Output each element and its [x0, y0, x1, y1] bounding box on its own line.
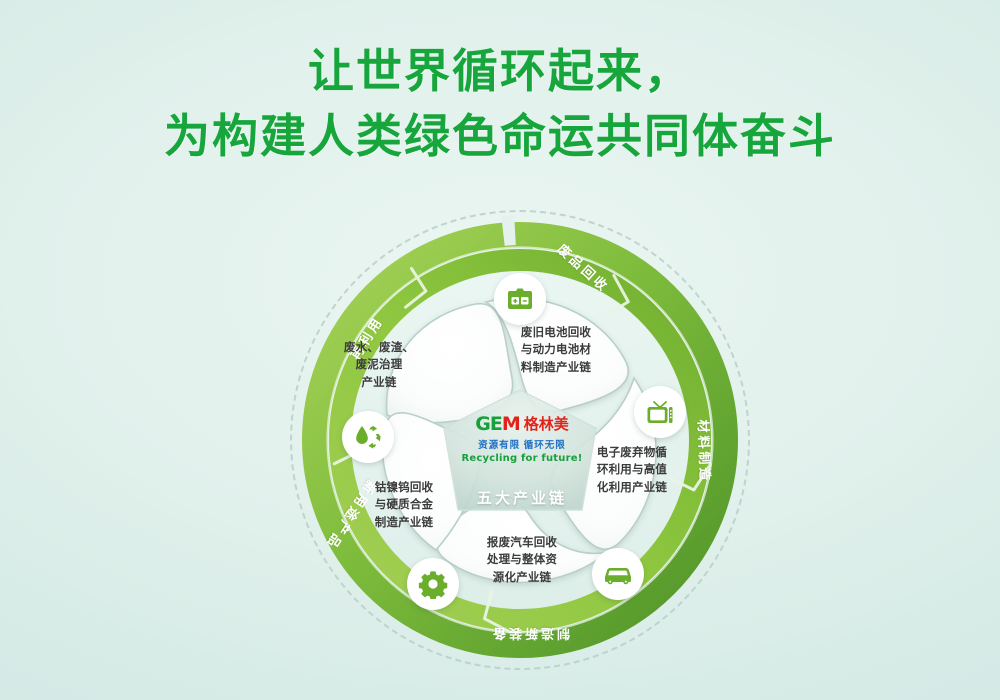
ring-label-material-mfg: 材料制造 [694, 419, 715, 484]
chain-label-line: 产业链 [325, 375, 433, 392]
chain-label-line: 与动力电池材 [502, 342, 610, 359]
television-icon-bubble[interactable] [634, 386, 686, 438]
ring-label-new-equipment: 制造新装备 [490, 625, 570, 644]
circular-value-chain-diagram: 再利用 废品回收 材料制造 制造新装备 新用途产品 废水、废渣、 废泥治理 产业… [290, 210, 750, 670]
battery-icon-bubble[interactable] [494, 273, 546, 325]
chain-label-line: 源化产业链 [468, 570, 576, 587]
chain-label-line: 废旧电池回收 [502, 325, 610, 342]
chain-label-end-of-life-vehicles: 报废汽车回收 处理与整体资 源化产业链 [468, 535, 576, 587]
chain-label-e-waste: 电子废弃物循 环利用与高值 化利用产业链 [578, 445, 686, 497]
chain-label-line: 钴镍钨回收 [350, 480, 458, 497]
car-icon [602, 563, 634, 585]
chain-label-line: 料制造产业链 [502, 360, 610, 377]
chain-label-cobalt-nickel-tungsten: 钴镍钨回收 与硬质合金 制造产业链 [350, 480, 458, 532]
chain-label-line: 与硬质合金 [350, 497, 458, 514]
chain-label-line: 处理与整体资 [468, 552, 576, 569]
chain-label-waste-treatment: 废水、废渣、 废泥治理 产业链 [325, 340, 433, 392]
gear-icon [418, 569, 448, 599]
page-title: 让世界循环起来， 为构建人类绿色命运共同体奋斗 [0, 42, 1000, 166]
chain-label-line: 废水、废渣、 [325, 340, 433, 357]
infographic-canvas: 让世界循环起来， 为构建人类绿色命运共同体奋斗 [0, 0, 1000, 700]
water-recycle-icon [353, 423, 384, 452]
gear-icon-bubble[interactable] [407, 558, 459, 610]
car-icon-bubble[interactable] [592, 548, 644, 600]
chain-label-line: 制造产业链 [350, 515, 458, 532]
battery-icon [505, 286, 535, 312]
chain-label-line: 废泥治理 [325, 357, 433, 374]
page-title-line-2: 为构建人类绿色命运共同体奋斗 [0, 107, 1000, 166]
chain-label-line: 化利用产业链 [578, 480, 686, 497]
chain-label-battery-recycling: 废旧电池回收 与动力电池材 料制造产业链 [502, 325, 610, 377]
television-icon [645, 399, 675, 426]
chain-label-line: 环利用与高值 [578, 462, 686, 479]
chain-label-line: 电子废弃物循 [578, 445, 686, 462]
chain-label-line: 报废汽车回收 [468, 535, 576, 552]
page-title-line-1: 让世界循环起来， [0, 42, 1000, 101]
water-recycle-icon-bubble[interactable] [342, 411, 394, 463]
